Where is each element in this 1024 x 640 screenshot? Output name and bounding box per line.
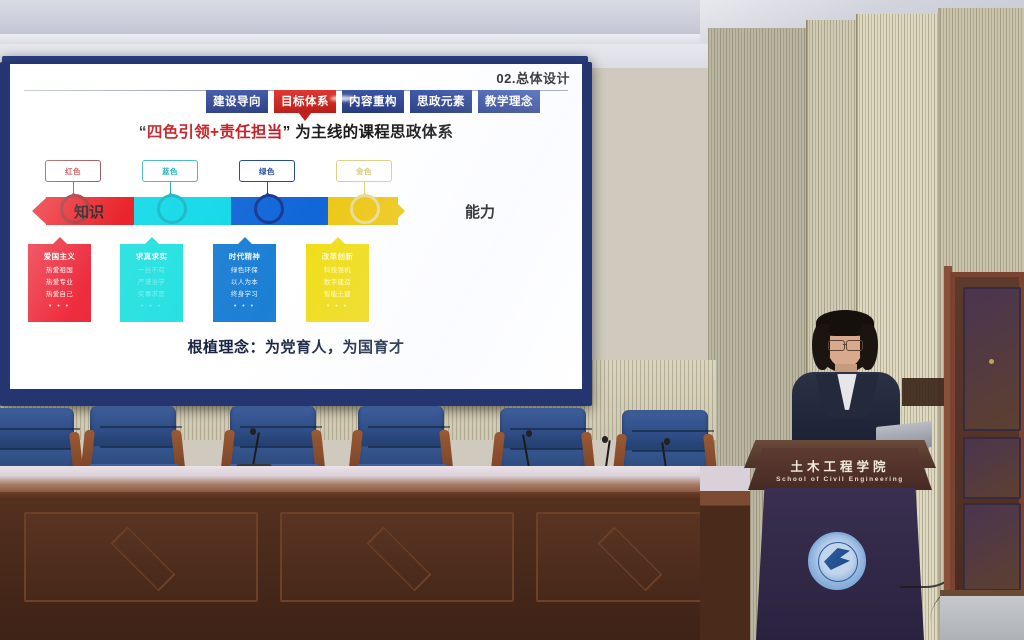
band-tail-notch [32, 197, 47, 225]
pillar-card-spirit: 时代精神 绿色环保 以人为本 终身学习 • • • [213, 244, 276, 322]
chip-gold-label: 金色 [356, 166, 372, 177]
band-ring-4 [350, 194, 380, 224]
table-panel [280, 512, 514, 602]
presentation-slide[interactable]: 02.总体设计 建设导向 目标体系 内容重构 思政元素 教学理念 “四色引领+责… [10, 64, 582, 389]
card-item: 终身学习 [231, 292, 258, 299]
pillar-card-innovation: 改革创新 科技强机 数字建造 智能土建 • • • [306, 244, 369, 322]
lectern-nameplate: 土木工程学院 School of Civil Engineering [748, 448, 932, 490]
card-item: 实事求是 [138, 292, 165, 299]
lectern-name-cn: 土木工程学院 [790, 456, 889, 475]
university-crest-icon [808, 532, 866, 590]
tab-jianshe-daoxiang[interactable]: 建设导向 [206, 90, 268, 113]
tab-mubiao-tixi[interactable]: 目标体系 [274, 90, 336, 113]
tab-jiaoxue-linian[interactable]: 教学理念 [478, 90, 540, 113]
slide-headline: “四色引领+责任担当” 为主线的课程思政体系 [10, 120, 582, 142]
card-title: 爱国主义 [44, 251, 76, 262]
card-more-dots: • • • [327, 303, 348, 310]
tab-neirong-chonggou[interactable]: 内容重构 [342, 90, 404, 113]
card-item: 一丝不苟 [138, 268, 165, 275]
chip-red: 红色 [45, 160, 101, 182]
table-panel [24, 512, 258, 602]
card-item: 绿色环保 [231, 268, 258, 275]
door-panel [963, 437, 1021, 499]
glasses-lens-right [846, 340, 863, 351]
card-item: 数字建造 [324, 280, 351, 287]
card-item: 严谨治学 [138, 280, 165, 287]
chip-green: 绿色 [239, 160, 295, 182]
card-item: 热爱自己 [46, 292, 73, 299]
chip-green-label: 绿色 [259, 166, 275, 177]
door-panel [963, 503, 1021, 591]
slide-section-number: 02.总体设计 [496, 68, 570, 87]
headline-quote-open: “ [139, 124, 147, 141]
chip-blue-label: 蓝色 [162, 166, 178, 177]
pillar-card-patriotism: 爱国主义 热爱祖国 热爱专业 热爱自己 • • • [28, 244, 91, 322]
slide-footer-text: 根植理念：为党育人，为国育才 [10, 336, 582, 357]
conference-table [0, 466, 736, 640]
card-item: 智能土建 [324, 292, 351, 299]
headline-highlight: 四色引领+责任担当 [147, 124, 283, 141]
chip-red-label: 红色 [65, 166, 81, 177]
card-item: 科技强机 [324, 268, 351, 275]
glasses-bridge [843, 344, 846, 345]
card-more-dots: • • • [141, 303, 162, 310]
card-more-dots: • • • [234, 303, 255, 310]
table-panel [536, 512, 720, 602]
room-scene: 02.总体设计 建设导向 目标体系 内容重构 思政元素 教学理念 “四色引领+责… [0, 0, 1024, 640]
pillar-card-truth: 求真求实 一丝不苟 严谨治学 实事求是 • • • [120, 244, 183, 322]
chip-blue: 蓝色 [142, 160, 198, 182]
lectern-name-en: School of Civil Engineering [776, 476, 904, 483]
chip-gold: 金色 [336, 160, 392, 182]
card-item: 热爱祖国 [46, 268, 73, 275]
band-head-arrow [391, 197, 405, 225]
card-title: 时代精神 [229, 251, 261, 262]
glasses-lens-left [828, 340, 845, 351]
headline-quote-close: ” [283, 124, 291, 141]
band-ring-2 [157, 194, 187, 224]
axis-label-right: 能力 [465, 201, 495, 222]
card-item: 热爱专业 [46, 280, 73, 287]
room-door[interactable] [950, 272, 1024, 596]
tab-sizheng-yuansu[interactable]: 思政元素 [410, 90, 472, 113]
card-title: 改革创新 [322, 251, 354, 262]
slide-tab-bar[interactable]: 建设导向 目标体系 内容重构 思政元素 教学理念 [206, 90, 540, 113]
door-knob-icon[interactable] [989, 359, 994, 364]
card-title: 求真求实 [136, 251, 168, 262]
band-ring-3 [254, 194, 284, 224]
card-item: 以人为本 [231, 280, 258, 287]
floor [940, 596, 1024, 640]
ceiling-light-reflection [330, 96, 356, 101]
axis-label-left: 知识 [74, 201, 104, 222]
headline-rest: 为主线的课程思政体系 [291, 124, 454, 141]
ceiling-light-reflection [130, 96, 156, 101]
card-more-dots: • • • [49, 303, 70, 310]
